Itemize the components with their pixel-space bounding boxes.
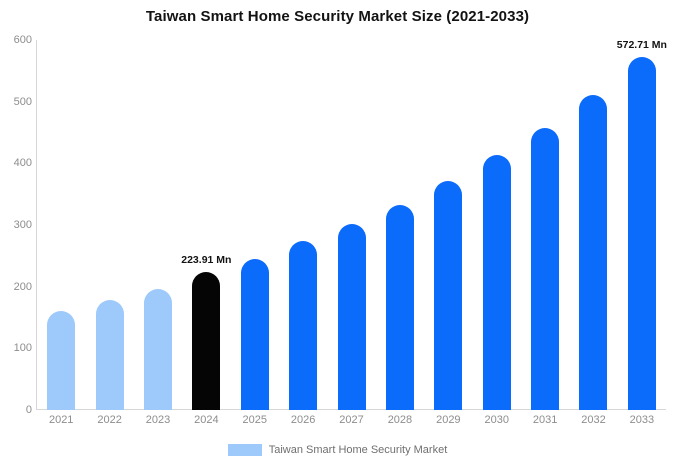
bar-2027[interactable] [338,224,366,410]
y-axis-tick-label: 200 [2,281,32,293]
bar-2031[interactable] [531,128,559,410]
x-axis-tick-label: 2022 [85,414,133,426]
bar-slot [569,40,617,410]
bar-slot [473,40,521,410]
y-axis-tick-label: 500 [2,96,32,108]
bar-slot [231,40,279,410]
bar-value-label: 223.91 Mn [181,254,231,266]
x-axis-ticks: 2021202220232024202520262027202820292030… [37,414,666,426]
x-axis-tick-label: 2031 [521,414,569,426]
bar-slot [279,40,327,410]
bar-slot: 223.91 Mn [182,40,230,410]
bar-2024[interactable] [192,272,220,410]
y-axis-tick-label: 600 [2,34,32,46]
bar-2033[interactable] [628,57,656,410]
legend-label[interactable]: Taiwan Smart Home Security Market [269,444,448,456]
bar-2021[interactable] [47,311,75,410]
bar-2026[interactable] [289,241,317,410]
x-axis-tick-label: 2023 [134,414,182,426]
chart-title: Taiwan Smart Home Security Market Size (… [0,8,675,25]
x-axis-tick-label: 2021 [37,414,85,426]
chart-legend: Taiwan Smart Home Security Market [0,444,675,456]
x-axis-tick-label: 2029 [424,414,472,426]
bar-2030[interactable] [483,155,511,410]
bar-slot [37,40,85,410]
bar-2028[interactable] [386,205,414,410]
y-axis-tick-label: 400 [2,157,32,169]
bar-chart: Taiwan Smart Home Security Market Size (… [0,0,675,469]
bar-2032[interactable] [579,95,607,410]
legend-swatch [228,444,262,456]
x-axis-tick-label: 2033 [618,414,666,426]
bar-series: 223.91 Mn572.71 Mn [37,40,666,410]
y-axis-tick-label: 300 [2,219,32,231]
bar-slot [85,40,133,410]
x-axis-tick-label: 2024 [182,414,230,426]
bar-2029[interactable] [434,181,462,410]
x-axis-tick-label: 2030 [473,414,521,426]
x-axis-tick-label: 2025 [231,414,279,426]
bar-slot [424,40,472,410]
bar-value-label: 572.71 Mn [617,39,667,51]
y-axis-ticks: 0100200300400500600 [0,40,32,410]
x-axis-tick-label: 2032 [569,414,617,426]
bar-2025[interactable] [241,259,269,410]
y-axis-tick-label: 100 [2,342,32,354]
bar-slot: 572.71 Mn [618,40,666,410]
y-axis-tick-label: 0 [2,404,32,416]
bar-slot [521,40,569,410]
x-axis-tick-label: 2028 [376,414,424,426]
x-axis-tick-label: 2026 [279,414,327,426]
bar-slot [134,40,182,410]
bar-2023[interactable] [144,289,172,410]
bar-slot [327,40,375,410]
bar-slot [376,40,424,410]
x-axis-tick-label: 2027 [327,414,375,426]
bar-2022[interactable] [96,300,124,410]
